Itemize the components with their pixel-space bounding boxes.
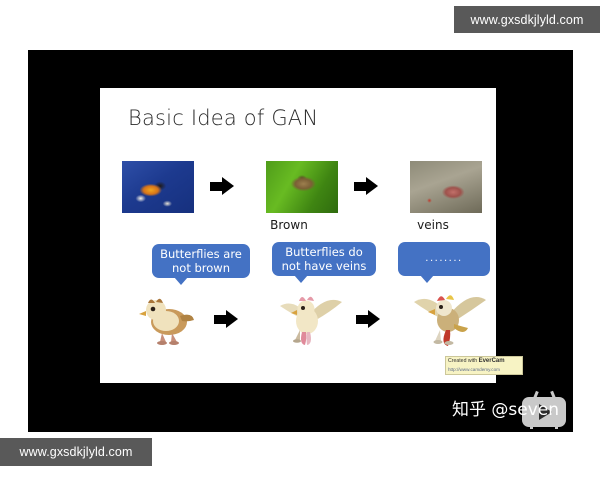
arrow-head [226, 310, 238, 328]
zhihu-attribution: 知乎 @seven [452, 395, 559, 420]
bird-stage-3-image [410, 288, 488, 350]
callout-butterflies-no-veins: Butterflies do not have veins [272, 242, 376, 276]
watermark-bottom: www.gxsdkjlyld.com [0, 438, 152, 466]
arrow-head [222, 177, 234, 195]
photo-leaf-with-veins [410, 161, 482, 213]
tv-leg-right [555, 425, 558, 429]
butterfly-photo-row [122, 161, 482, 217]
bird-stage-1-image [136, 288, 198, 350]
evercam-created-with-text: Created with [448, 358, 479, 364]
evercam-brand-name: EverCam [479, 358, 505, 364]
presentation-slide: Basic Idea of GAN Brown veins Butterflie… [100, 88, 496, 383]
caption-veins: veins [388, 218, 478, 232]
bird-stage-2-image [272, 288, 346, 350]
photo-butterfly-on-blue-background [122, 161, 194, 213]
evercam-badge-url: http://www.camdemy.com [448, 366, 520, 374]
callout-ellipsis: ........ [398, 242, 490, 276]
bird-evolution-row [122, 288, 482, 354]
evercam-badge: Created with EverCam http://www.camdemy.… [445, 356, 523, 375]
evercam-badge-line1: Created with EverCam [448, 358, 520, 366]
arrow-head [368, 310, 380, 328]
watermark-top: www.gxsdkjlyld.com [454, 6, 600, 33]
callout-butterflies-not-brown: Butterflies are not brown [152, 244, 250, 278]
tv-leg-left [530, 425, 533, 429]
caption-brown: Brown [244, 218, 334, 232]
slide-title: Basic Idea of GAN [128, 106, 318, 130]
photo-butterfly-on-green-leaves [266, 161, 338, 213]
video-frame: Basic Idea of GAN Brown veins Butterflie… [28, 50, 573, 432]
arrow-head [366, 177, 378, 195]
